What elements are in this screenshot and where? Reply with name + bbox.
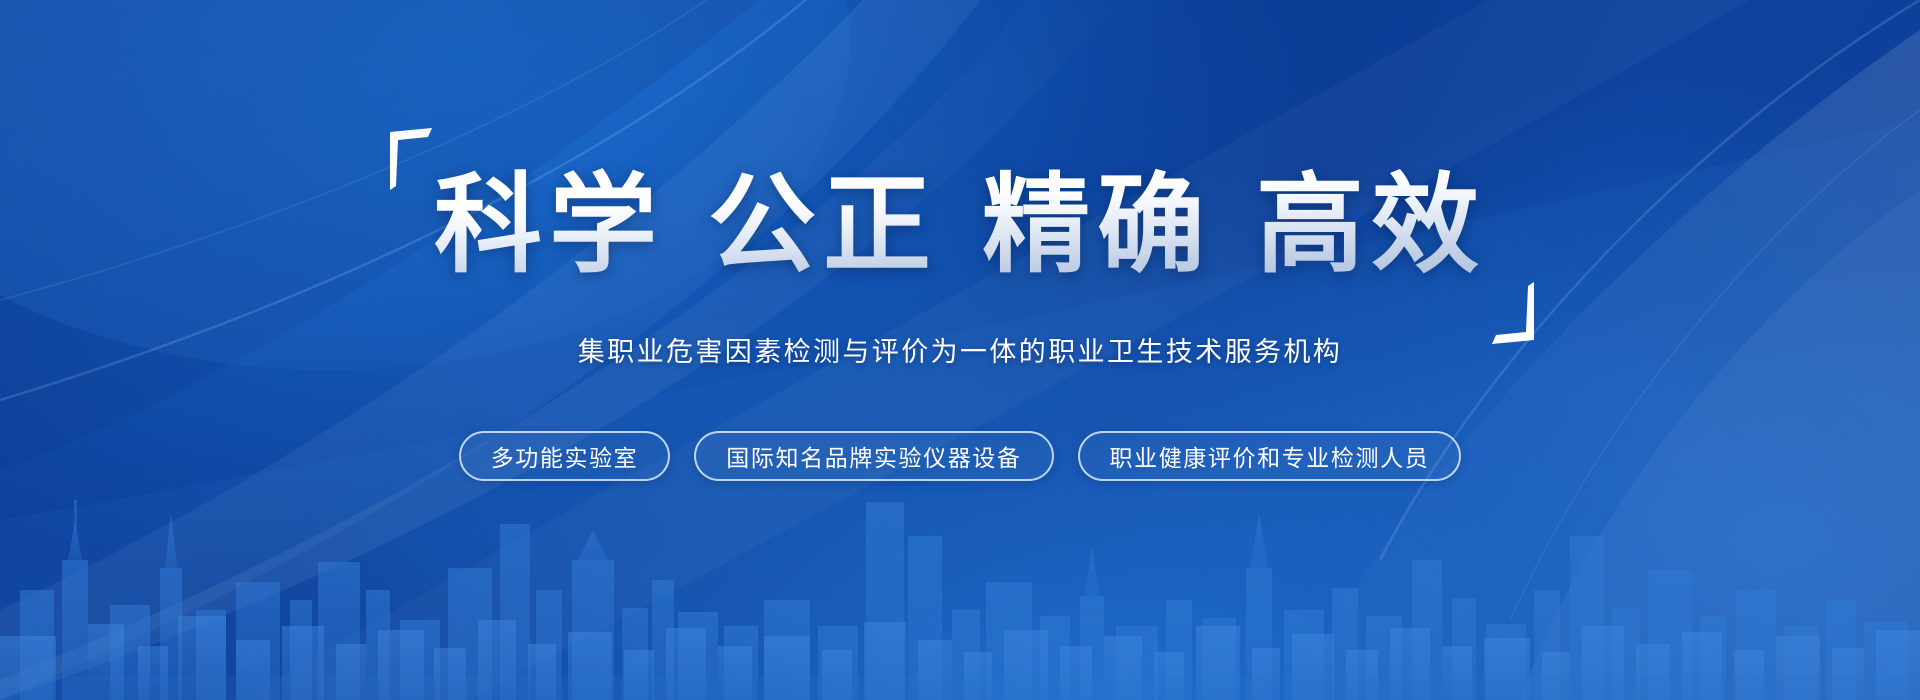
feature-tag-staff[interactable]: 职业健康评价和专业检测人员 — [1078, 431, 1462, 481]
headline-segment-4: 高效 — [1256, 168, 1486, 282]
banner-subtitle: 集职业危害因素检测与评价为一体的职业卫生技术服务机构 — [578, 330, 1342, 369]
feature-tag-list: 多功能实验室 国际知名品牌实验仪器设备 职业健康评价和专业检测人员 — [459, 431, 1462, 481]
bracket-open-icon — [388, 128, 434, 190]
page-title: 科学 公正 精确 高效 — [434, 168, 1486, 282]
bracket-close-icon — [1490, 282, 1536, 344]
headline-segment-2: 公正 — [708, 168, 938, 282]
feature-tag-lab[interactable]: 多功能实验室 — [459, 431, 671, 481]
headline-segment-1: 科学 — [434, 168, 664, 282]
headline-segment-3: 精确 — [982, 168, 1212, 282]
hero-banner: 科学 公正 精确 高效 集职业危害因素检测与评价为一体的职业卫生技术服务机构 多… — [0, 0, 1920, 700]
feature-tag-equipment[interactable]: 国际知名品牌实验仪器设备 — [694, 431, 1053, 481]
headline-row: 科学 公正 精确 高效 — [400, 150, 1520, 300]
banner-content: 科学 公正 精确 高效 集职业危害因素检测与评价为一体的职业卫生技术服务机构 多… — [0, 0, 1920, 700]
